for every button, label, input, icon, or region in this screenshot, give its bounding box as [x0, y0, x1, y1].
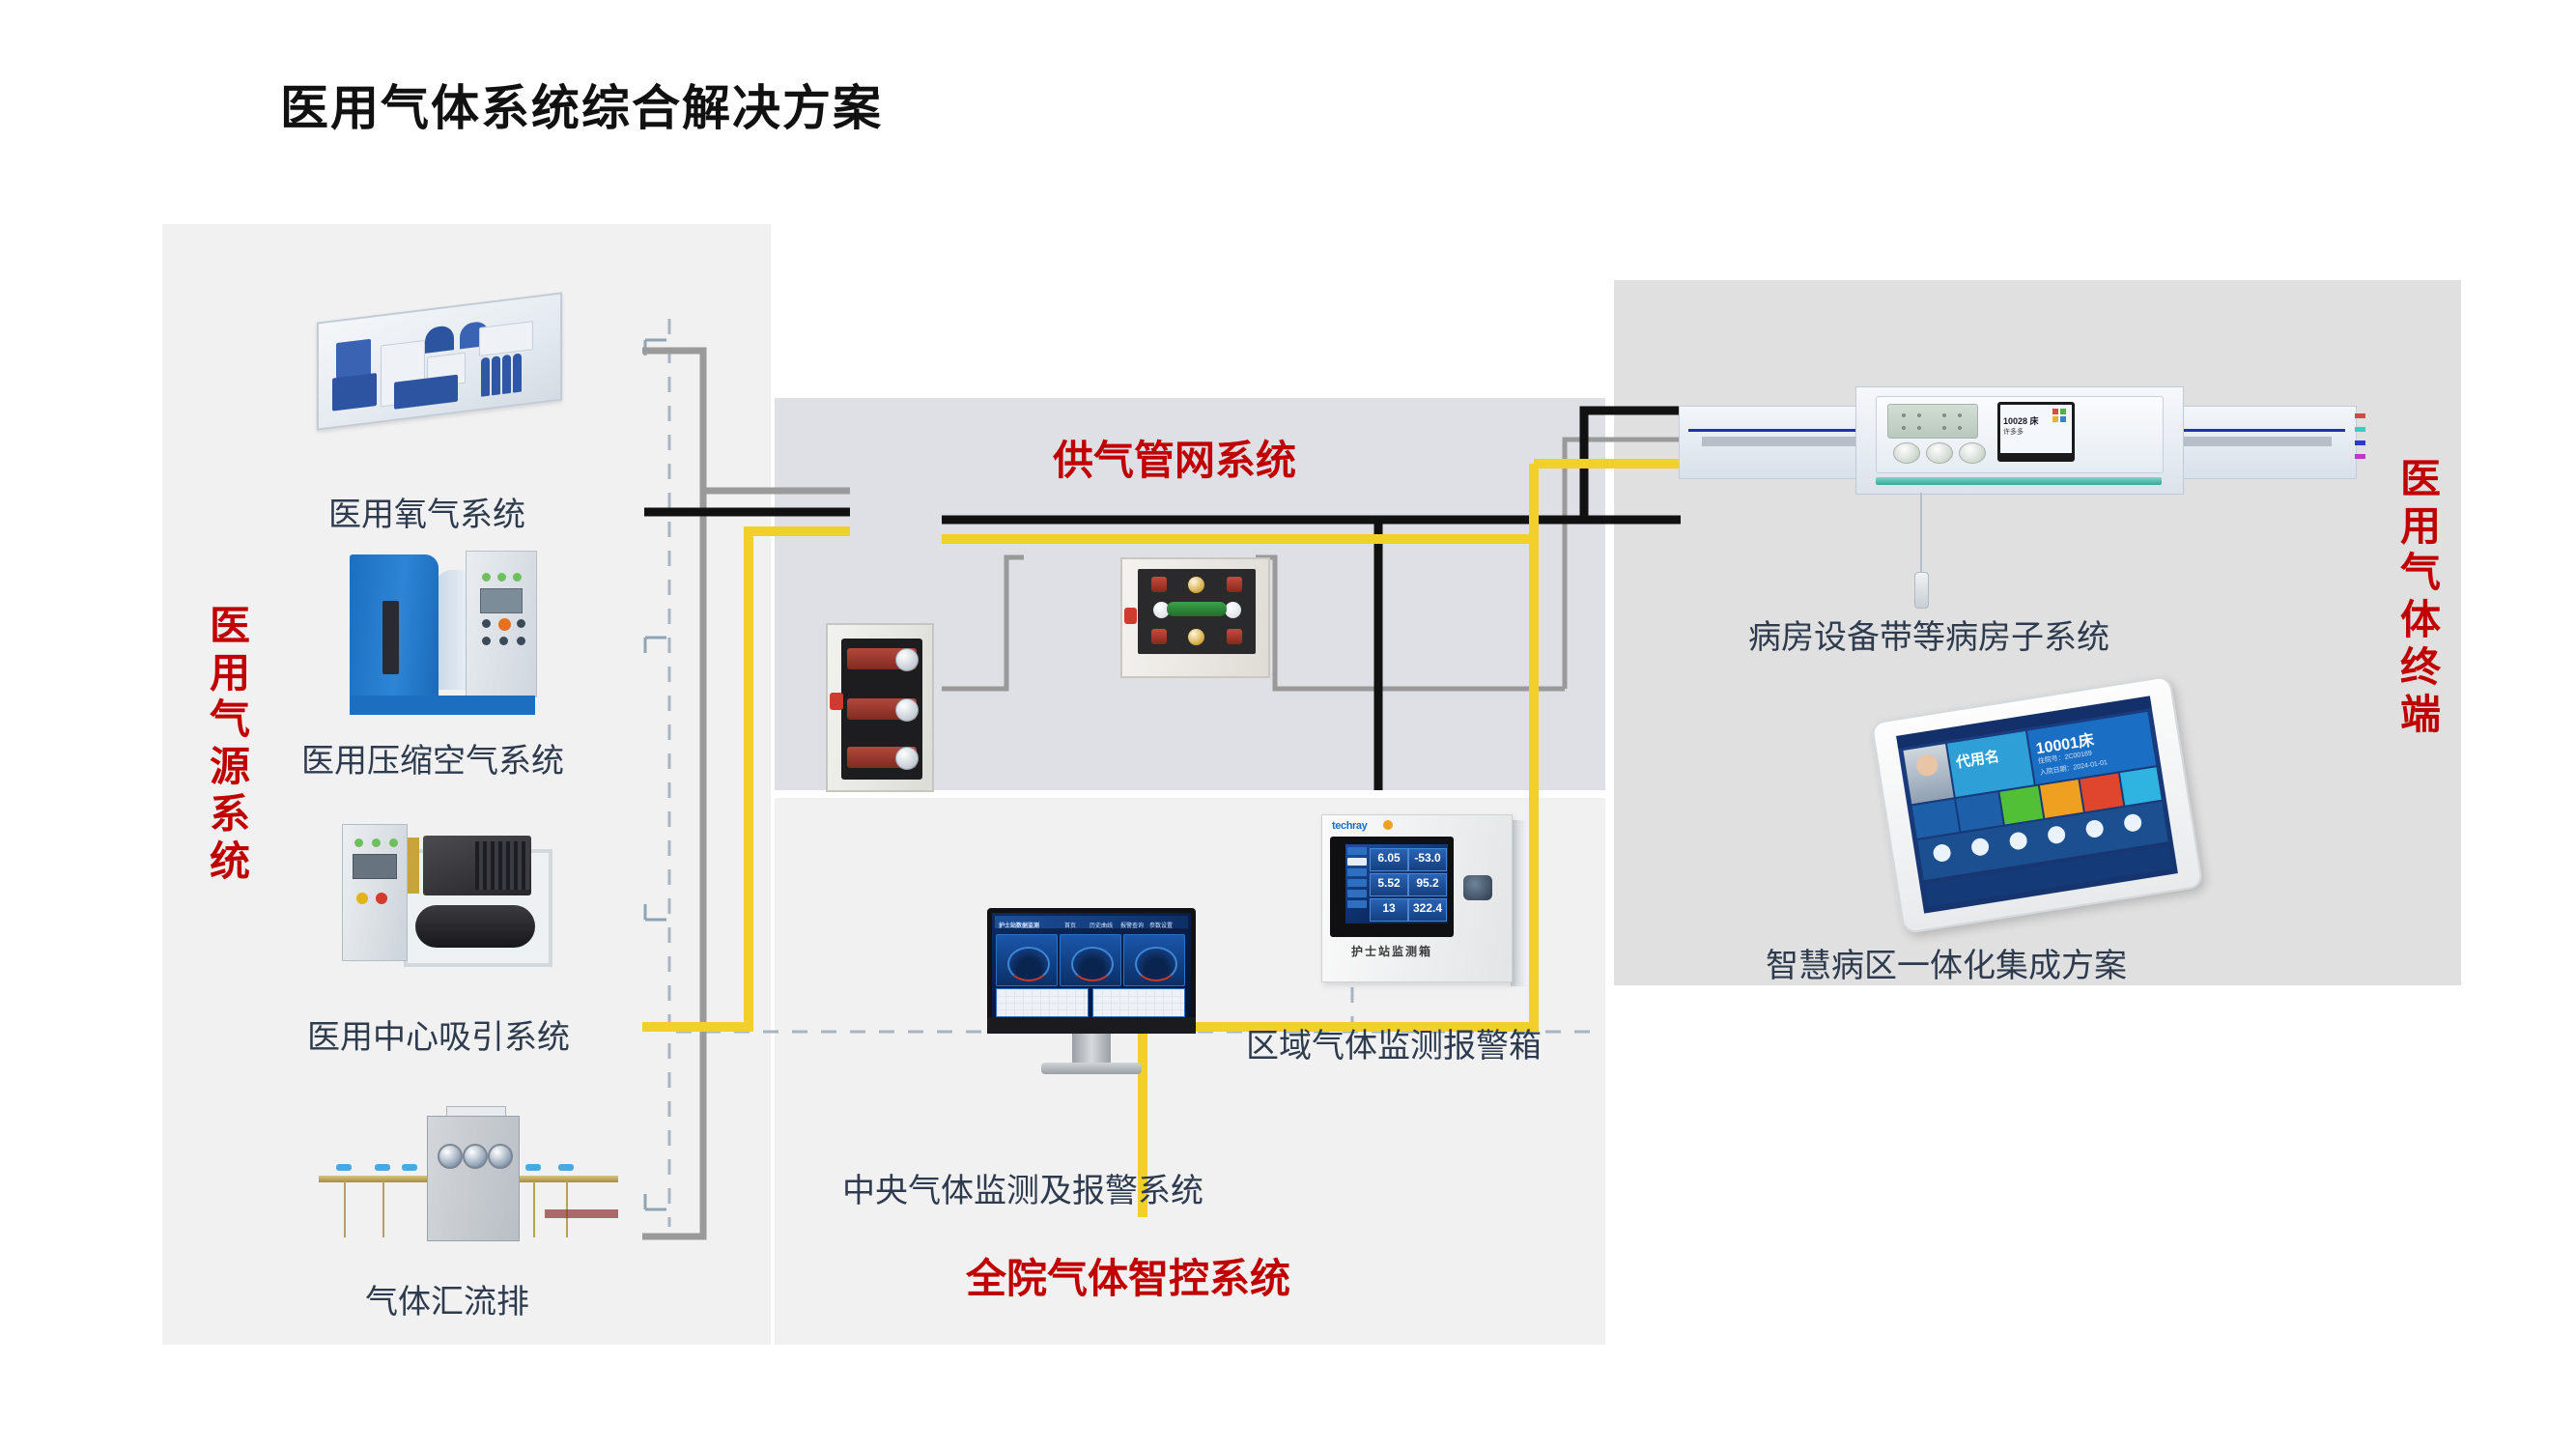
bed-head-unit-icon: 10028 床 许多多: [1679, 386, 2355, 493]
section-title-gas-terminal: 医用气体终端: [2395, 456, 2446, 738]
bell-icon[interactable]: [2084, 819, 2105, 839]
tablet-tile-1[interactable]: [1956, 792, 2003, 831]
alarm-reading-5: 322.4: [1409, 901, 1446, 915]
imac-tab-1[interactable]: 历史曲线: [1090, 921, 1113, 929]
chat-icon[interactable]: [1932, 843, 1952, 864]
tablet-tile-0[interactable]: [1912, 799, 1960, 838]
caption-oxygen-system: 医用氧气系统: [328, 488, 525, 535]
nurse-station-alarm-box-icon: techray 6.05 -53.0 5.52 95.2 13: [1321, 814, 1529, 1003]
medical-air-icon: [346, 541, 539, 720]
imac-tab-0[interactable]: 首页: [1064, 921, 1076, 929]
section-title-pipe-network: 供气管网系统: [1053, 428, 1296, 487]
caption-smart-ward: 智慧病区一体化集成方案: [1766, 939, 2127, 986]
area-valve-alarm-panel-icon: [1120, 557, 1270, 678]
speaker-icon[interactable]: [2008, 831, 2028, 851]
nurse-call-switch[interactable]: [1914, 572, 1929, 609]
vertical-title-char: 终: [2395, 644, 2446, 692]
zone-valve-box-icon: [826, 623, 934, 792]
vertical-title-char: 用: [205, 650, 255, 697]
bedhead-bed-number: 10028 床: [2003, 414, 2039, 427]
alarm-reading-4: 13: [1371, 901, 1407, 915]
section-title-gas-control: 全院气体智控系统: [966, 1246, 1290, 1305]
alarm-reading-3: 95.2: [1409, 876, 1446, 890]
vertical-title-char: 统: [205, 838, 255, 886]
gear-icon[interactable]: [2123, 812, 2143, 833]
caption-medical-air-system: 医用压缩空气系统: [301, 734, 564, 781]
vertical-title-char: 用: [2395, 503, 2446, 551]
vertical-title-char: 医: [205, 603, 255, 650]
tablet-tile-3[interactable]: [2040, 780, 2083, 818]
imac-tab-2[interactable]: 报警查询: [1120, 921, 1144, 929]
bedhead-patient-name: 许多多: [2003, 427, 2024, 437]
section-title-gas-source: 医用气源系统: [205, 603, 255, 885]
gas-manifold-icon: [319, 1106, 618, 1256]
imac-monitor-icon: 护士站数据监测 首页 历史曲线 报警查询 参数设置: [987, 908, 1196, 1087]
vertical-title-char: 气: [205, 696, 255, 744]
tablet-patient-name: 代用名: [1954, 746, 2000, 773]
vertical-title-char: 端: [2395, 692, 2446, 739]
vertical-title-char: 源: [205, 744, 255, 791]
alarm-box-lock-icon[interactable]: [1463, 875, 1492, 900]
tablet-tile-5[interactable]: [2120, 767, 2162, 806]
brand-dot-icon: [1383, 820, 1393, 830]
caption-area-alarm-box: 区域气体监测报警箱: [1246, 1019, 1542, 1066]
alarm-reading-1: -53.0: [1409, 851, 1446, 865]
caption-gas-manifold: 气体汇流排: [365, 1275, 529, 1322]
vertical-title-char: 系: [205, 791, 255, 838]
page-title: 医用气体系统综合解决方案: [280, 70, 883, 139]
imac-app-title: 护士站数据监测: [999, 921, 1039, 929]
vertical-title-char: 气: [2395, 550, 2446, 597]
tablet-tile-4[interactable]: [2080, 773, 2123, 811]
alarm-reading-0: 6.05: [1371, 851, 1407, 865]
alarm-reading-2: 5.52: [1371, 876, 1407, 890]
heart-icon[interactable]: [2047, 825, 2067, 845]
alarm-box-brand: techray: [1332, 820, 1367, 832]
alarm-box-caption: 护士站监测箱: [1330, 943, 1454, 959]
caption-central-monitoring: 中央气体监测及报警系统: [842, 1164, 1203, 1211]
vacuum-suction-icon: [340, 816, 549, 976]
tablet-tile-2[interactable]: [1999, 786, 2043, 825]
video-icon[interactable]: [1970, 837, 1991, 857]
vertical-title-char: 医: [2395, 456, 2446, 503]
oxygen-plant-icon: [309, 290, 570, 435]
caption-vacuum-system: 医用中心吸引系统: [307, 1010, 570, 1058]
caption-bedhead-system: 病房设备带等病房子系统: [1748, 611, 2109, 658]
imac-tab-3[interactable]: 参数设置: [1149, 921, 1173, 929]
smart-ward-tablet-icon: 代用名 10001床 住院号：2C00189 入院日期：2024-01-01: [1885, 697, 2204, 920]
vertical-title-char: 体: [2395, 597, 2446, 644]
